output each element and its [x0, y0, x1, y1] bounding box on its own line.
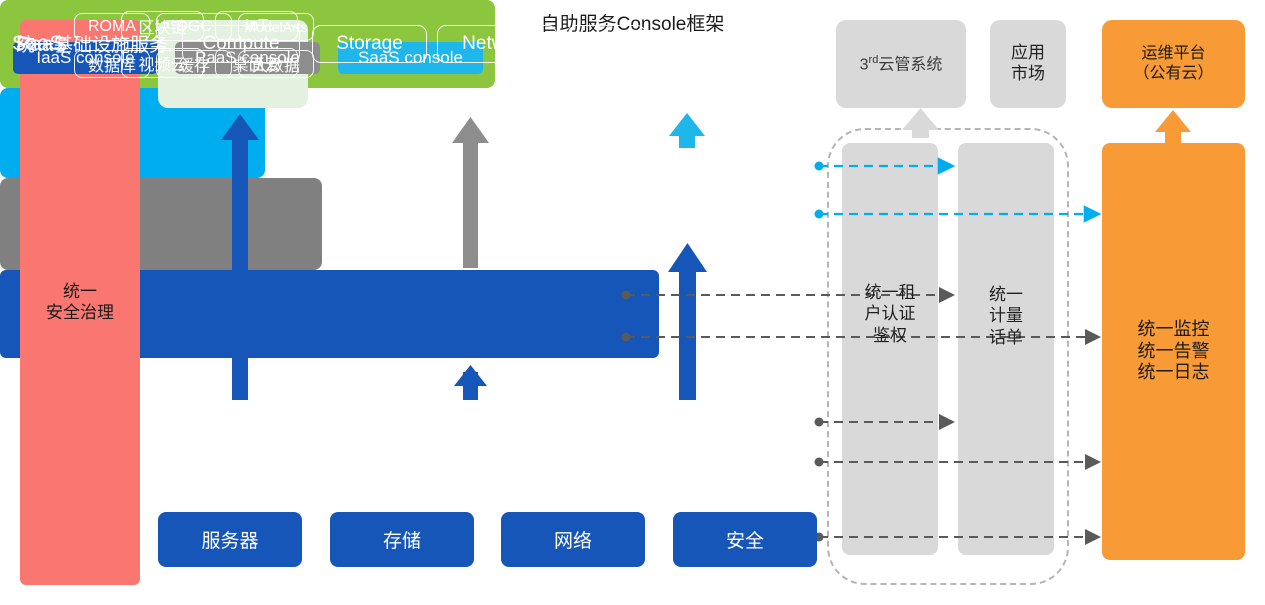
- infra-item-cce[interactable]: CCE: [568, 25, 646, 63]
- shared-service-column-auth: [842, 143, 938, 555]
- ops-platform-public-cloud-box[interactable]: 运维平台 （公有云）: [1102, 20, 1245, 108]
- infra-item-network[interactable]: Network: [437, 25, 557, 63]
- hardware-server-label: 服务器: [201, 526, 258, 553]
- hardware-network-label: 网络: [554, 526, 592, 553]
- arrow-ops-main-to-ops-platform: [1155, 110, 1191, 144]
- hardware-security-label: 安全: [726, 526, 764, 553]
- third-party-cloud-mgmt-label: 3rd云管系统: [860, 54, 943, 75]
- hardware-item-storage[interactable]: 存储: [330, 512, 474, 567]
- hardware-item-server[interactable]: 服务器: [158, 512, 302, 567]
- arrow-paas-to-console: [452, 117, 489, 268]
- app-market-box[interactable]: 应用 市场: [990, 20, 1066, 108]
- ops-platform-label: 运维平台 （公有云）: [1133, 44, 1213, 83]
- security-governance-label: 统一 安全治理: [46, 282, 114, 323]
- shared-service-column-metering: [958, 143, 1054, 555]
- infra-item-compute[interactable]: Compute: [182, 25, 300, 63]
- third-party-cloud-mgmt-box[interactable]: 3rd云管系统: [836, 20, 966, 108]
- architecture-diagram: 统一 安全治理 API网关 自助服务Console框架 IaaS console…: [0, 0, 1265, 605]
- unified-monitoring-panel[interactable]: 统一监控 统一告警 统一日志: [1102, 143, 1245, 560]
- shared-service-label-metering: 统一 计量 话单: [958, 284, 1054, 348]
- security-governance-panel[interactable]: 统一 安全治理: [20, 20, 140, 585]
- unified-monitoring-label: 统一监控 统一告警 统一日志: [1138, 319, 1210, 385]
- arrow-infra-to-saas: [668, 243, 707, 400]
- hardware-storage-label: 存储: [383, 526, 421, 553]
- hardware-item-security[interactable]: 安全: [673, 512, 817, 567]
- shared-service-label-auth: 统一租 户认证 鉴权: [842, 282, 938, 346]
- app-market-label: 应用 市场: [1011, 43, 1045, 84]
- infra-item-storage[interactable]: Storage: [312, 25, 427, 63]
- arrow-infra-to-paas: [454, 365, 487, 400]
- arrow-saas-to-saas-console: [669, 113, 705, 148]
- infrastructure-title: 统一基础设施服务: [16, 30, 168, 57]
- hardware-item-network[interactable]: 网络: [501, 512, 645, 567]
